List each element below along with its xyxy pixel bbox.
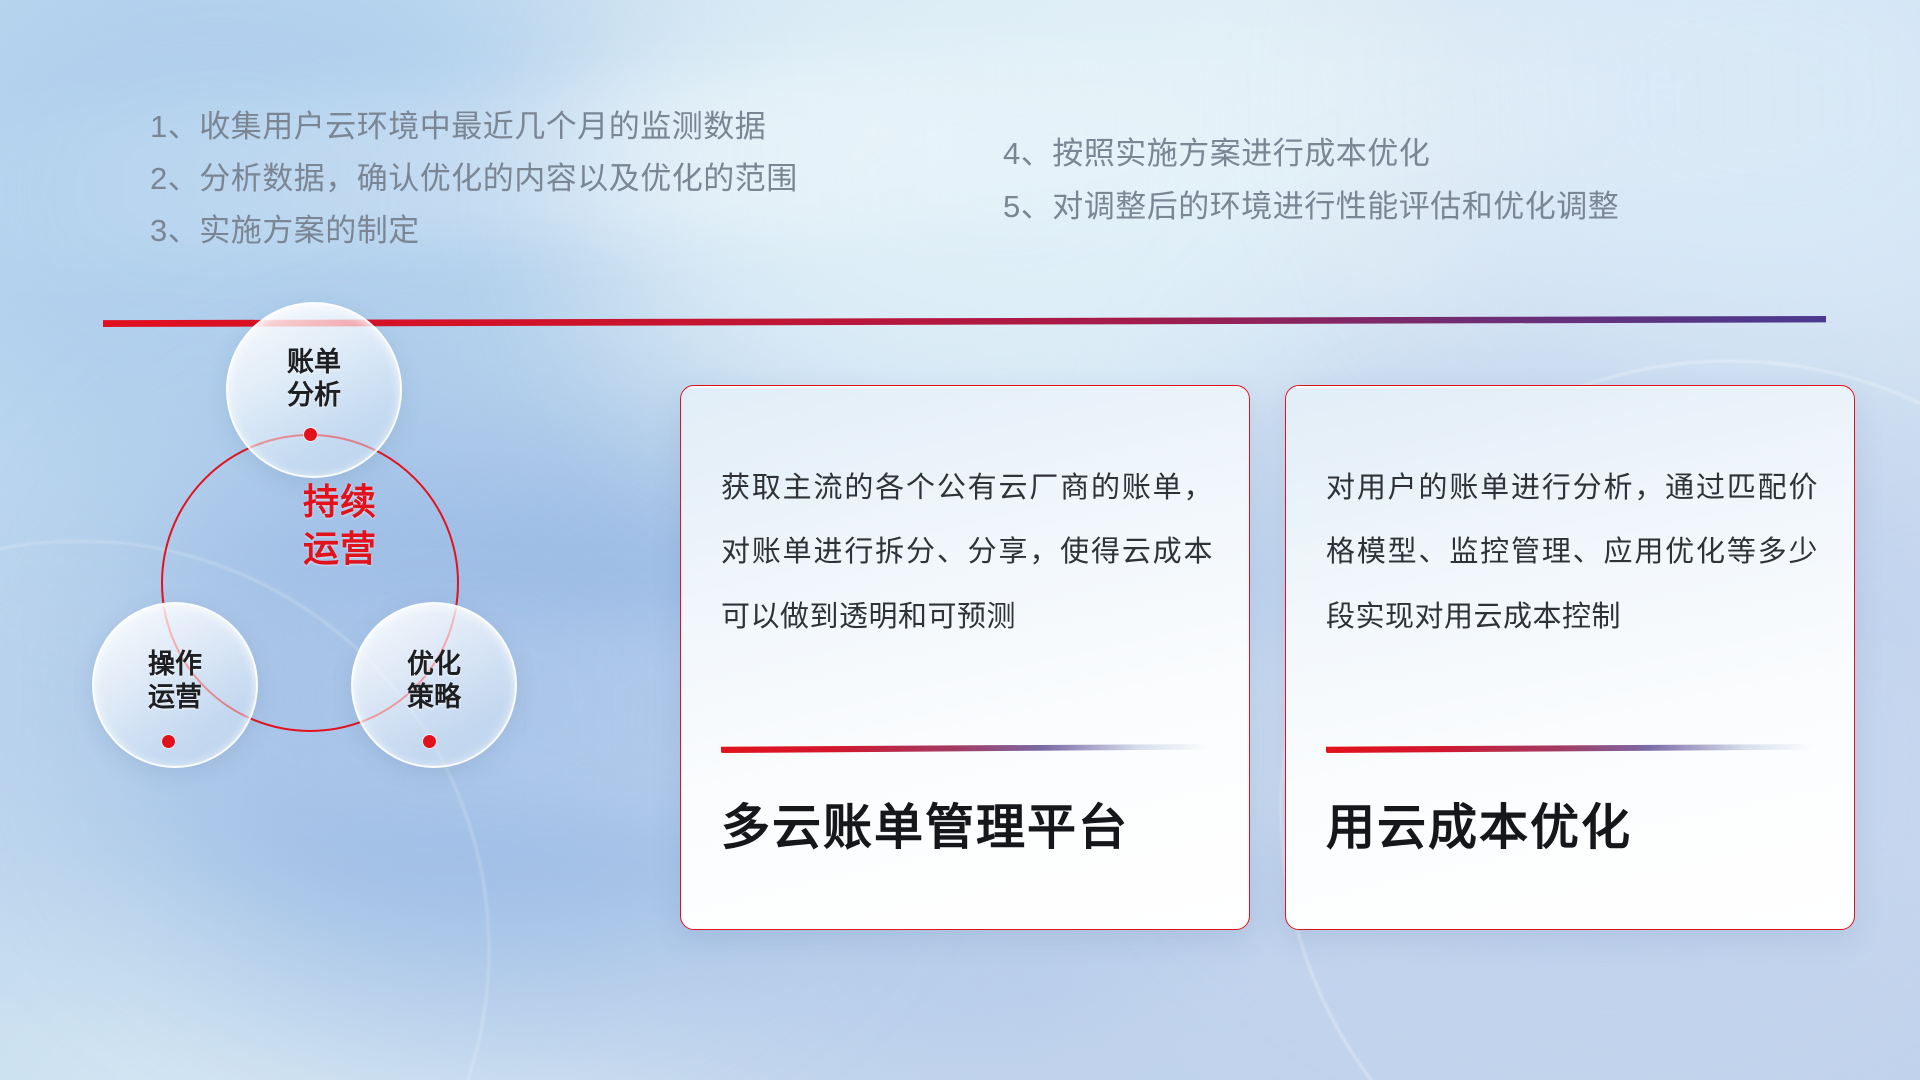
step-item-3: 3、实施方案的制定 <box>150 205 420 250</box>
circle-node-bottom-right-label: 优化 策略 <box>351 648 517 714</box>
card-title: 用云成本优化 <box>1326 788 1818 859</box>
circle-node-top-label-line1: 账单 <box>226 346 402 379</box>
circle-node-top-label: 账单 分析 <box>226 346 402 412</box>
connector-dot-bottom-left <box>162 735 175 748</box>
circle-node-bottom-left-label-line2: 运营 <box>92 681 258 714</box>
step-item-2: 2、分析数据，确认优化的内容以及优化的范围 <box>150 153 798 198</box>
card-divider <box>721 744 1209 753</box>
circle-node-bottom-right-label-line2: 策略 <box>351 681 517 714</box>
step-item-5: 5、对调整后的环境进行性能评估和优化调整 <box>1003 181 1619 226</box>
card-multi-cloud-billing[interactable]: 获取主流的各个公有云厂商的账单，对账单进行拆分、分享，使得云成本可以做到透明和可… <box>680 385 1250 930</box>
card-body-text: 获取主流的各个公有云厂商的账单，对账单进行拆分、分享，使得云成本可以做到透明和可… <box>721 456 1213 649</box>
continuous-operations-diagram: 账单 分析 操作 运营 优化 策略 持续 运营 <box>80 286 550 786</box>
card-divider <box>1326 744 1814 753</box>
center-label: 持续 运营 <box>240 479 440 573</box>
center-label-line2: 运营 <box>240 526 440 573</box>
card-body-text: 对用户的账单进行分析，通过匹配价格模型、监控管理、应用优化等多少段实现对用云成本… <box>1326 456 1818 649</box>
circle-node-top-label-line2: 分析 <box>226 379 402 412</box>
step-item-1: 1、收集用户云环境中最近几个月的监测数据 <box>150 101 766 146</box>
connector-dot-bottom-right <box>423 735 436 748</box>
step-item-4: 4、按照实施方案进行成本优化 <box>1003 128 1430 173</box>
circle-node-bottom-right-label-line1: 优化 <box>351 648 517 681</box>
circle-node-bottom-left-label-line1: 操作 <box>92 648 258 681</box>
connector-dot-top <box>304 428 317 441</box>
center-label-line1: 持续 <box>240 479 440 526</box>
card-title: 多云账单管理平台 <box>721 788 1213 859</box>
circle-node-bottom-left-label: 操作 运营 <box>92 648 258 714</box>
card-cloud-cost-optimization[interactable]: 对用户的账单进行分析，通过匹配价格模型、监控管理、应用优化等多少段实现对用云成本… <box>1285 385 1855 930</box>
